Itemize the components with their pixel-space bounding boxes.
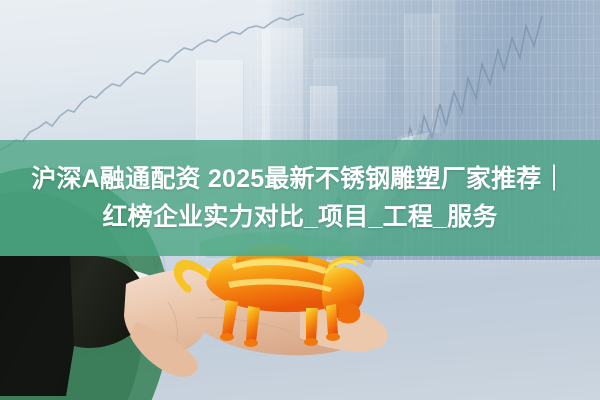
headline-band	[0, 140, 600, 256]
bull-leg	[306, 308, 318, 340]
banner-image: 沪深A融通配资 2025最新不锈钢雕塑厂家推荐｜ 红榜企业实力对比_项目_工程_…	[0, 0, 600, 400]
suit-sleeve-shadow	[0, 256, 74, 396]
rising-line-chart	[0, 14, 304, 152]
bull-leg	[326, 304, 338, 336]
